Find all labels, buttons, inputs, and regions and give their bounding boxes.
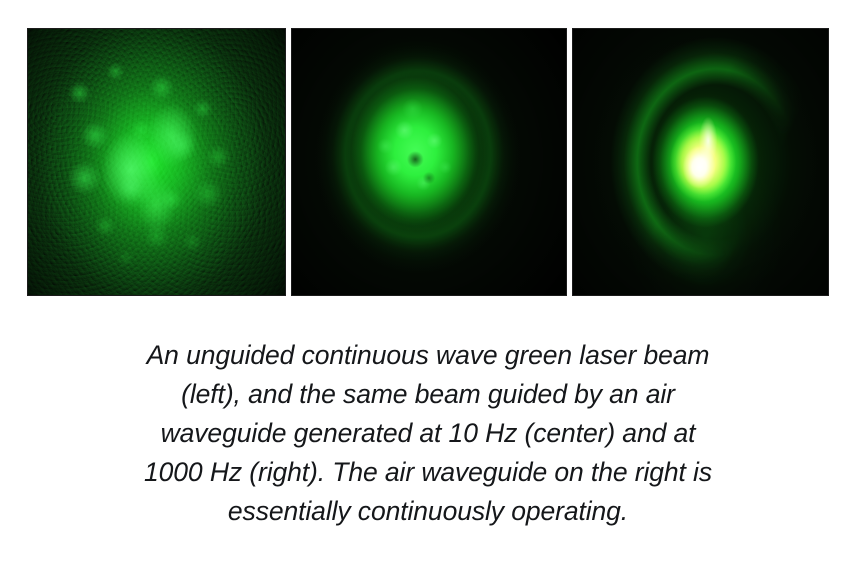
figure-caption: An unguided continuous wave green laser … — [98, 336, 758, 531]
beam-yellow-shell-right — [573, 29, 828, 295]
beam-speckle-left — [28, 29, 285, 295]
beam-halo-center — [292, 29, 566, 295]
figure-container: An unguided continuous wave green laser … — [0, 0, 856, 570]
beam-blob-center — [292, 29, 566, 295]
beam-outer-arc-right — [573, 29, 828, 295]
beam-fine-speckle-left — [28, 29, 285, 295]
beam-panel-left — [28, 29, 285, 295]
beam-panel-right — [573, 29, 828, 295]
beam-halo-left — [28, 29, 285, 295]
beam-image-strip — [28, 29, 828, 295]
beam-core-tail-right — [573, 29, 828, 295]
beam-saturated-core-right — [573, 29, 828, 295]
beam-vignette-left — [28, 29, 285, 295]
beam-core-left — [28, 29, 285, 295]
beam-vignette-center — [292, 29, 566, 295]
beam-speckle-center — [292, 29, 566, 295]
beam-ring-center — [292, 29, 566, 295]
beam-panel-center — [292, 29, 566, 295]
beam-outer-glow-right — [573, 29, 828, 295]
beam-dark-spot-center — [292, 29, 566, 295]
beam-lower-arc-right — [573, 29, 828, 295]
beam-green-halo-right — [573, 29, 828, 295]
beam-vignette-right — [573, 29, 828, 295]
